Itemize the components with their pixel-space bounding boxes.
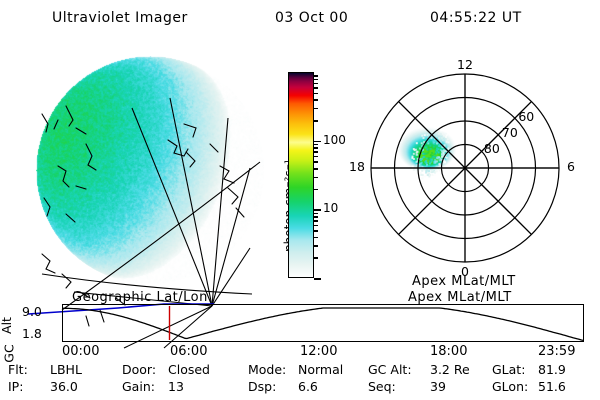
altitude-curve [63, 305, 583, 341]
altitude-plot-box[interactable] [62, 304, 584, 342]
globe-overlay [14, 48, 264, 296]
status-key-seq: Seq: [368, 379, 396, 394]
colorbar-minor-tick [314, 75, 318, 77]
polar-grid [371, 74, 559, 262]
altitude-trace-panel[interactable]: Alt GC 9.0 1.8 Geographic Lat/Lon Apex M… [0, 296, 600, 354]
colorbar-minor-tick [314, 151, 318, 153]
altitude-y-axis-label: Alt GC [4, 298, 22, 346]
polar-caption: Apex MLat/MLT [412, 274, 516, 289]
status-key-flt: Flt: [8, 362, 28, 377]
colorbar-minor-tick [314, 225, 318, 227]
colorbar-axis-label: photon cm⁻²s⁻¹ [268, 94, 284, 254]
status-value-dsp: 6.6 [298, 379, 318, 394]
altitude-y-axis-label-line2: GC [2, 344, 17, 362]
observation-time: 04:55:22 UT [430, 10, 522, 26]
colorbar-minor-tick [314, 79, 318, 81]
colorbar-minor-tick [314, 87, 318, 89]
colorbar-minor-tick [314, 257, 318, 259]
colorbar-minor-tick [314, 147, 318, 149]
altitude-x-tick-0: 00:00 [62, 344, 99, 359]
polar-mlt-label-12: 12 [457, 57, 473, 72]
status-row-1: Flt:LBHLDoor:ClosedMode:NormalGC Alt:3.2… [0, 362, 600, 378]
observation-date: 03 Oct 00 [275, 10, 348, 26]
colorbar-minor-tick [314, 120, 318, 122]
colorbar-minor-tick [314, 216, 318, 218]
status-value-glat: 81.9 [538, 362, 566, 377]
status-value-gcalt: 3.2 Re [430, 362, 470, 377]
colorbar-minor-tick [314, 245, 318, 247]
altitude-x-tick-3: 18:00 [430, 344, 467, 359]
altitude-y-tick-min: 1.8 [22, 326, 42, 341]
colorbar-minor-tick [314, 220, 318, 222]
colorbar-minor-tick [314, 278, 321, 280]
polar-lat-label-60: 60 [518, 109, 534, 124]
colorbar-minor-tick [314, 99, 318, 101]
colorbar-minor-tick [314, 156, 318, 158]
colorbar-minor-tick [314, 177, 318, 179]
status-key-door: Door: [122, 362, 156, 377]
colorbar-scale [288, 72, 314, 278]
status-value-flt: LBHL [50, 362, 82, 377]
colorbar-minor-tick [314, 189, 318, 191]
polar-dial [352, 42, 600, 298]
status-row-2: IP:36.0Gain:13Dsp:6.6Seq:39GLon:51.6 [0, 379, 600, 395]
colorbar-minor-tick [314, 209, 321, 211]
colorbar-minor-tick [314, 83, 318, 85]
colorbar-panel: photon cm⁻²s⁻¹ 10010 [266, 48, 352, 298]
colorbar-tick-label-10: 10 [323, 201, 338, 215]
apex-caption: Apex MLat/MLT [408, 290, 512, 305]
status-value-door: Closed [168, 362, 210, 377]
status-key-dsp: Dsp: [248, 379, 276, 394]
polar-lat-label-70: 70 [502, 125, 518, 140]
colorbar-minor-tick [314, 161, 318, 163]
colorbar-minor-tick [314, 237, 318, 239]
colorbar-minor-tick [314, 230, 318, 232]
geographic-caption: Geographic Lat/Lon [72, 290, 208, 305]
altitude-x-tick-1: 06:00 [170, 344, 207, 359]
colorbar-gradient [289, 73, 313, 277]
altitude-y-axis-label-line1: Alt [0, 317, 14, 334]
header: Ultraviolet Imager 03 Oct 00 04:55:22 UT [0, 8, 600, 30]
altitude-x-tick-4: 23:59 [538, 344, 575, 359]
status-key-ip: IP: [8, 379, 23, 394]
status-key-glat: GLat: [492, 362, 525, 377]
status-block: Flt:LBHLDoor:ClosedMode:NormalGC Alt:3.2… [0, 362, 600, 398]
status-key-glon: GLon: [492, 379, 528, 394]
colorbar-minor-tick [314, 93, 318, 95]
polar-dial-panel[interactable]: 121860607080 Apex MLat/MLT [352, 42, 600, 298]
status-value-gain: 13 [168, 379, 184, 394]
polar-lat-label-80: 80 [484, 141, 500, 156]
colorbar-minor-tick [314, 108, 318, 110]
status-value-seq: 39 [430, 379, 446, 394]
status-key-mode: Mode: [248, 362, 286, 377]
colorbar-minor-tick [314, 168, 318, 170]
altitude-x-tick-2: 12:00 [300, 344, 337, 359]
altitude-y-tick-max: 9.0 [22, 304, 42, 319]
polar-mlt-label-6: 6 [567, 159, 575, 174]
status-key-gcalt: GC Alt: [368, 362, 412, 377]
aurora-oval-patch [398, 127, 456, 179]
status-key-gain: Gain: [122, 379, 155, 394]
colorbar-minor-tick [314, 213, 318, 215]
uvi-summary-plot: Ultraviolet Imager 03 Oct 00 04:55:22 UT… [0, 0, 600, 400]
colorbar-minor-tick [314, 141, 321, 143]
geographic-image-panel[interactable] [14, 48, 264, 296]
polar-mlt-label-18: 18 [349, 159, 365, 174]
colorbar-tick-label-100: 100 [323, 133, 346, 147]
instrument-title: Ultraviolet Imager [52, 10, 188, 26]
status-value-glon: 51.6 [538, 379, 566, 394]
status-value-ip: 36.0 [50, 379, 78, 394]
status-value-mode: Normal [298, 362, 343, 377]
colorbar-minor-tick [314, 144, 318, 146]
